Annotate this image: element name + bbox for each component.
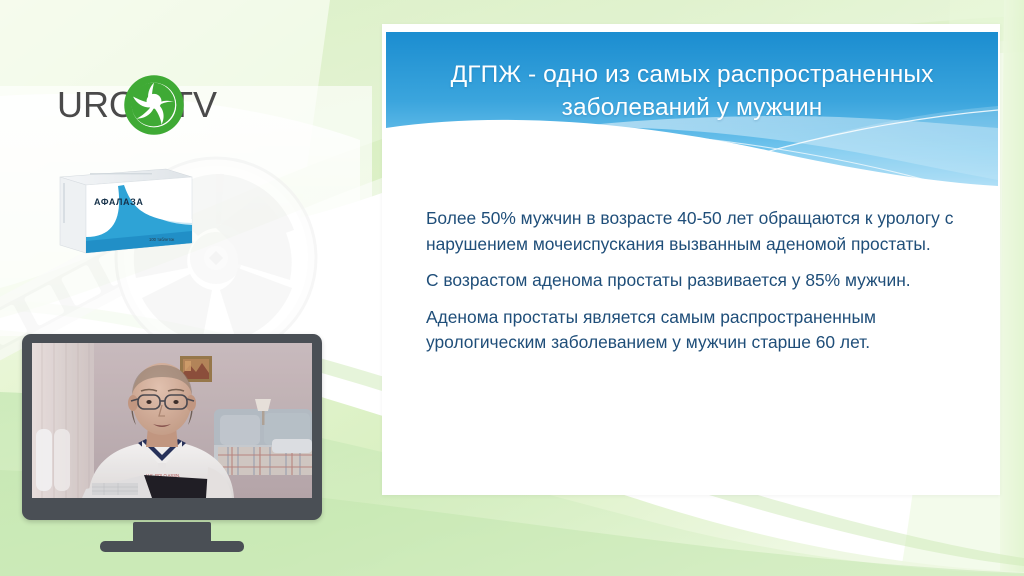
monitor-video-player[interactable]: U.S. POLO ASSN. Authentic POLO TEAM [22,334,338,556]
slide-content-panel: ДГПЖ - одно из самых распространенных за… [382,24,1000,495]
video-still-image: U.S. POLO ASSN. Authentic POLO TEAM [32,343,312,498]
presentation-slide: URO TV [0,0,1024,576]
slide-title-banner: ДГПЖ - одно из самых распространенных за… [386,32,998,186]
monitor-stand-base [100,541,244,552]
box-brand-text: АФАЛАЗА [94,197,144,207]
monitor-frame: U.S. POLO ASSN. Authentic POLO TEAM [22,334,322,520]
body-paragraph-3: Аденома простаты является самым распрост… [426,305,966,356]
slide-title: ДГПЖ - одно из самых распространенных за… [386,58,998,124]
left-media-column: URO TV [0,0,370,576]
aperture-leaf-icon [123,74,185,136]
box-count-text: 100 таблеток [149,237,174,242]
afalaza-product-box: АФАЛАЗА 100 таблеток [46,163,196,259]
body-paragraph-2: С возрастом аденома простаты развивается… [426,268,966,294]
monitor-screen[interactable]: U.S. POLO ASSN. Authentic POLO TEAM [32,343,312,498]
slide-body-text: Более 50% мужчин в возрасте 40-50 лет об… [426,206,966,356]
uro-tv-logo: URO TV [42,72,232,138]
body-paragraph-1: Более 50% мужчин в возрасте 40-50 лет об… [426,206,966,257]
